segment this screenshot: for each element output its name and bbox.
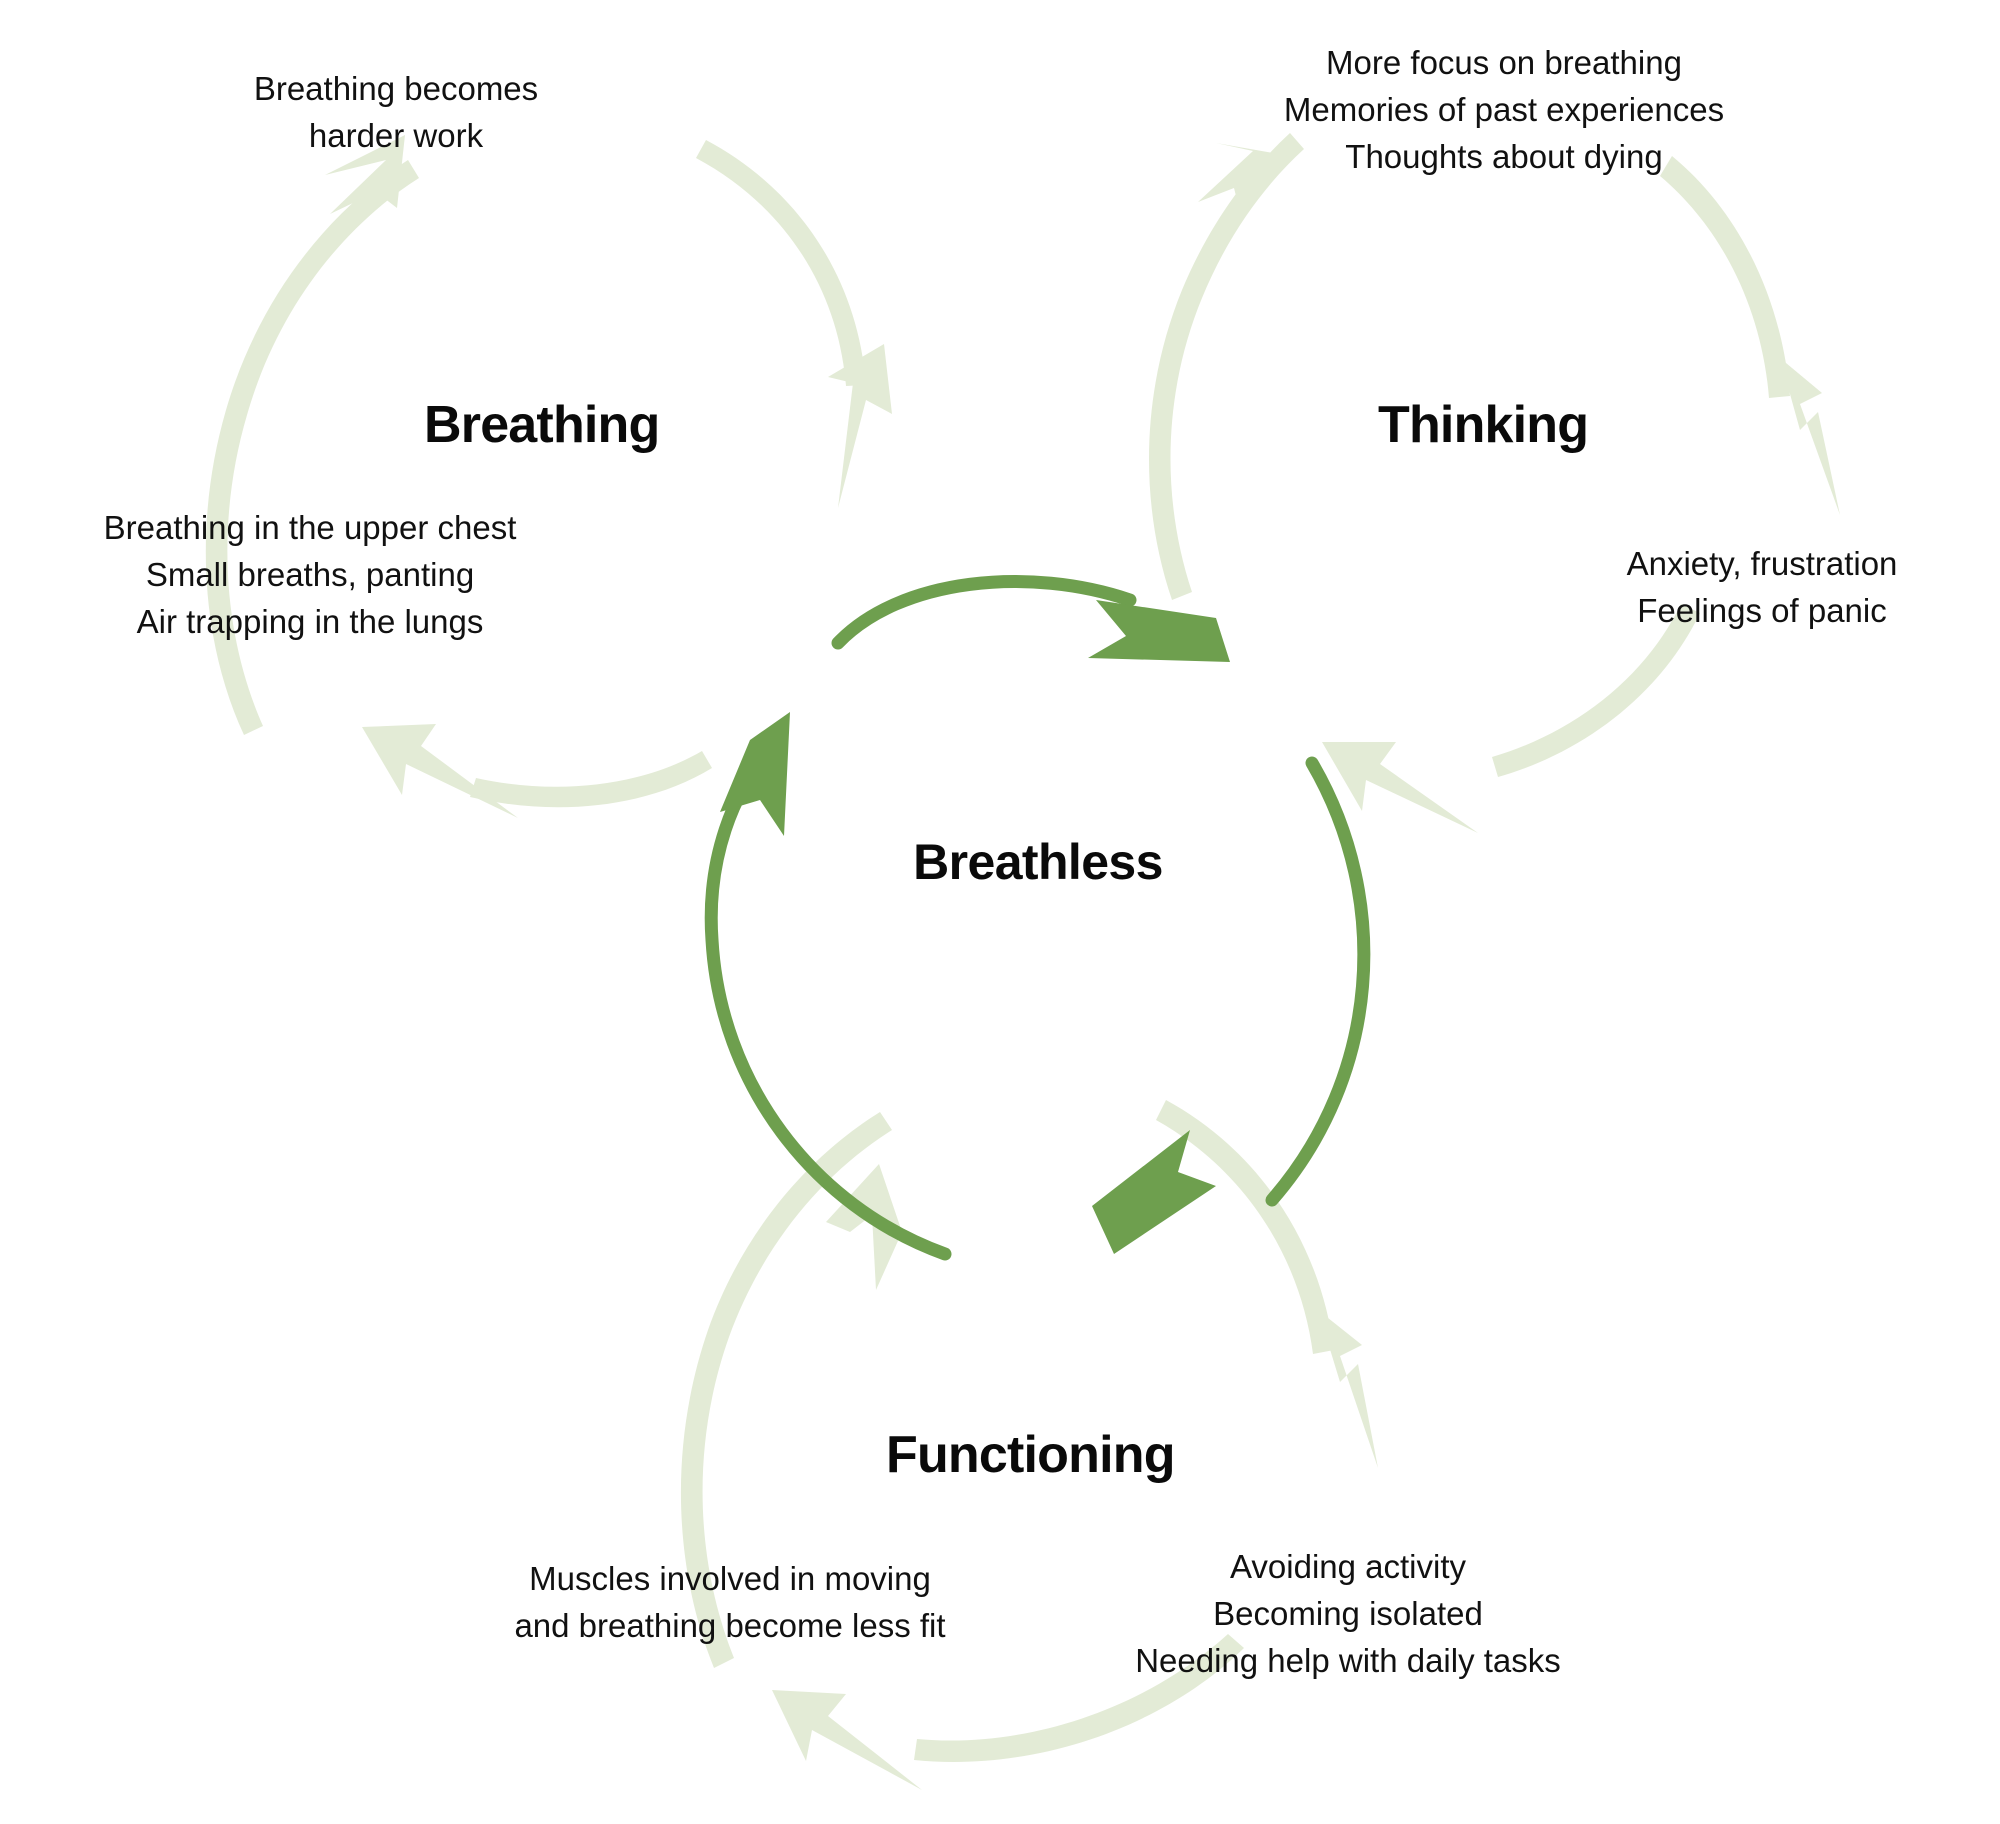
thinking-thoughts-text: More focus on breathing Memories of past… [1284,40,1724,181]
thinking-feeling-line-1: Anxiety, frustration [1627,541,1898,588]
node-title-functioning: Functioning [886,1427,1175,1484]
thinking-feelings-text: Anxiety, frustration Feelings of panic [1627,541,1898,635]
functioning-behaviour-line-3: Needing help with daily tasks [1135,1638,1561,1685]
breathing-loop-arrowhead-upleft [362,724,518,818]
functioning-loop-arrowhead-upleft [772,1690,922,1790]
center-label-breathless: Breathless [913,835,1163,890]
thinking-loop-arc-left [1149,133,1304,600]
functioning-behaviour-line-1: Avoiding activity [1135,1544,1561,1591]
breathing-loop-arc-left [206,160,419,735]
functioning-behaviour-text: Avoiding activity Becoming isolated Need… [1135,1544,1561,1685]
breathing-symptom-line-1: Breathing in the upper chest [104,505,517,552]
functioning-fitness-line-2: and breathing become less fit [514,1603,945,1650]
inner-arrowhead-to-functioning [1092,1130,1216,1254]
thinking-thought-line-1: More focus on breathing [1284,40,1724,87]
functioning-fitness-text: Muscles involved in moving and breathing… [514,1556,945,1650]
breathing-outcome-line-2: harder work [254,113,538,160]
inner-arc-thinking-to-functioning [1272,763,1364,1200]
breathing-loop-arc-upper [696,140,866,386]
thinking-feeling-line-2: Feelings of panic [1627,588,1898,635]
arrow-layer [0,0,2000,1824]
functioning-fitness-line-1: Muscles involved in moving [514,1556,945,1603]
breathing-outcome-line-1: Breathing becomes [254,66,538,113]
thinking-thought-line-2: Memories of past experiences [1284,87,1724,134]
inner-arrowhead-to-thinking [1088,600,1230,662]
functioning-loop-arrowhead-down [1318,1310,1378,1468]
thinking-loop-arc-right [1660,156,1790,398]
node-title-breathing: Breathing [424,397,659,454]
breathing-symptom-line-3: Air trapping in the lungs [104,599,517,646]
breathing-symptom-line-2: Small breaths, panting [104,552,517,599]
inner-arc-functioning-to-breathing [711,758,945,1254]
thinking-loop-arrows [1149,133,1840,833]
thinking-thought-line-3: Thoughts about dying [1284,134,1724,181]
breathing-outcome-text: Breathing becomes harder work [254,66,538,160]
breathing-loop-arc-lower [470,751,712,807]
node-title-thinking: Thinking [1378,397,1588,454]
functioning-behaviour-line-2: Becoming isolated [1135,1591,1561,1638]
inner-arc-breathing-to-thinking [838,581,1130,643]
breathing-symptoms-text: Breathing in the upper chest Small breat… [104,505,517,646]
breathing-loop-arrowhead-down [828,344,892,508]
thinking-loop-arrowhead-down [1780,358,1840,515]
diagram-canvas: Breathing Breathing becomes harder work … [0,0,2000,1824]
inner-cycle-arrows [711,581,1364,1254]
